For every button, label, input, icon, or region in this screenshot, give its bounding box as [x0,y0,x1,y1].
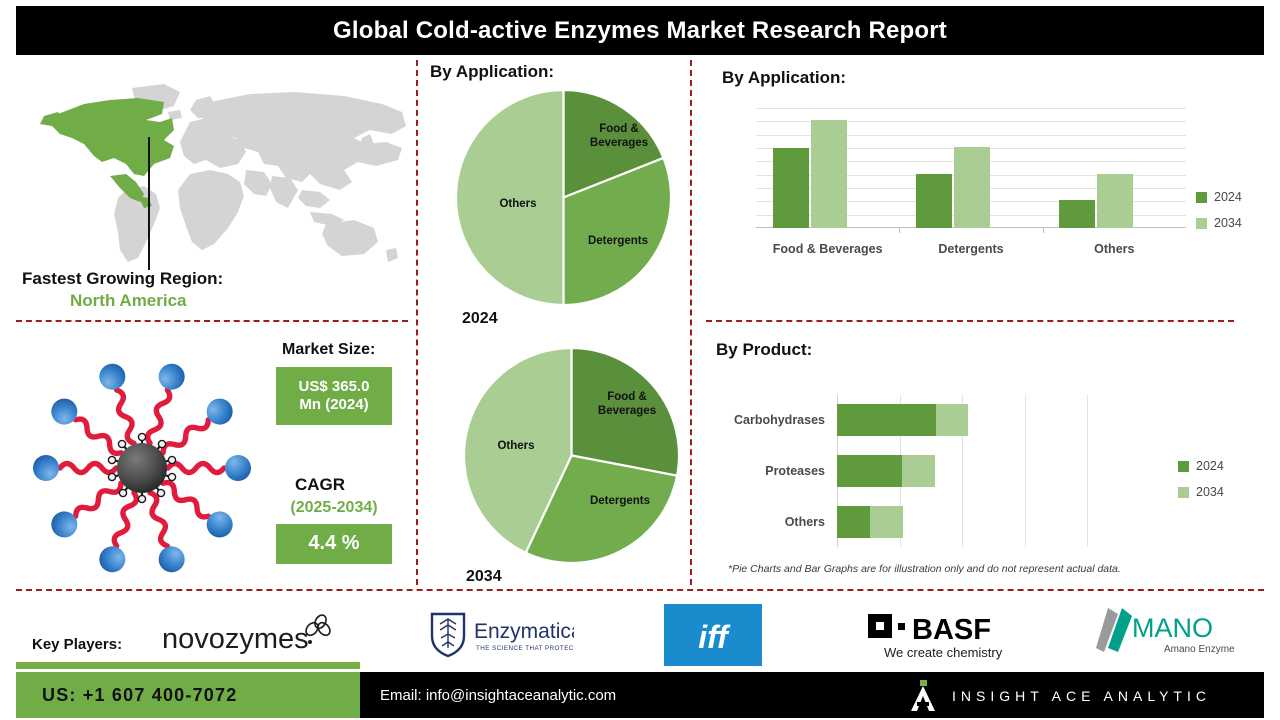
footer-contact-block: Email: info@insightaceanalytic.com INSIG… [360,672,1264,718]
bar-segment-2024 [837,404,936,436]
cagr-value-box: 4.4 % [276,524,392,564]
legend-item-2024-product: 2024 [1178,459,1224,473]
page-title: Global Cold-active Enzymes Market Resear… [333,17,947,45]
bar-2024 [1059,200,1095,228]
enzyme-nanoparticle-illustration [22,352,262,584]
svg-text:Amano Enzyme: Amano Enzyme [1164,644,1235,655]
pie-2024-year: 2024 [462,310,498,328]
bar-2034 [1097,174,1133,228]
axis-tick [899,228,900,233]
divider-vertical-left [416,60,418,585]
legend-swatch-2034-product [1178,487,1189,498]
product-bar-title: By Product: [716,340,812,360]
legend-label-2024-product: 2024 [1196,459,1224,473]
bar-segment-2034 [870,506,903,538]
market-size-title: Market Size: [282,341,375,359]
legend-label-2034: 2034 [1214,216,1242,230]
map-pointer-line [148,137,150,270]
gridline [1025,395,1026,547]
footer-phone-block: US: +1 607 400-7072 [16,672,360,718]
bar-segment-2024 [837,506,870,538]
svg-text:THE SCIENCE THAT PROTECTS: THE SCIENCE THAT PROTECTS [476,645,574,652]
svg-text:iff: iff [698,619,731,655]
pie-slice [572,348,680,476]
bar-2034 [954,147,990,228]
divider-horizontal-left [16,320,408,322]
svg-text:MANO: MANO [1132,613,1213,643]
pies-section-title: By Application: [430,62,554,82]
legend-item-2034: 2034 [1196,216,1242,230]
category-label: Proteases [765,455,837,487]
legend-item-2024: 2024 [1196,190,1242,204]
application-bar-legend: 2024 2034 [1196,190,1242,242]
bar-row: Proteases [837,455,935,487]
key-players-label: Key Players: [32,636,122,653]
fastest-region-value: North America [70,291,187,311]
svg-text:We create chemistry: We create chemistry [884,645,1003,660]
bar-2024 [773,148,809,228]
divider-horizontal-right [706,320,1234,322]
fastest-region-label: Fastest Growing Region: [22,269,223,289]
enzymatica-logo: Enzymatica THE SCIENCE THAT PROTECTS [424,608,574,662]
gridline [756,108,1186,109]
novozymes-logo: novozymes [160,612,340,660]
product-bar-legend: 2024 2034 [1178,459,1224,511]
axis-tick [1043,228,1044,233]
footer-email: Email: info@insightaceanalytic.com [380,687,616,704]
by-application-bar-chart: Food & BeveragesDetergentsOthers [756,108,1186,228]
bar-row: Carbohydrases [837,404,968,436]
bar-row: Others [837,506,903,538]
pie-slice [456,90,564,305]
market-size-line2: Mn (2024) [299,396,370,414]
svg-text:Enzymatica: Enzymatica [474,620,574,643]
legend-label-2034-product: 2034 [1196,485,1224,499]
basf-logo: BASF We create chemistry [866,606,1036,664]
header-bar: Global Cold-active Enzymes Market Resear… [16,6,1264,55]
legend-label-2024: 2024 [1214,190,1242,204]
cagr-title: CAGR [295,475,345,495]
bar-segment-2034 [936,404,968,436]
legend-item-2034-product: 2034 [1178,485,1224,499]
legend-swatch-2024-product [1178,461,1189,472]
gridline [1087,395,1088,547]
bar-2034 [811,120,847,228]
pie-2034-year: 2034 [466,568,502,586]
divider-vertical-right [690,60,692,585]
svg-text:novozymes: novozymes [162,623,309,655]
category-label: Others [1043,242,1186,256]
cagr-years: (2025-2034) [276,499,392,517]
brand-logo: INSIGHT ACE ANALYTIC [908,680,1211,712]
market-size-line1: US$ 365.0 [299,378,370,396]
insight-ace-mark-icon [908,680,938,712]
footer-phone: US: +1 607 400-7072 [42,685,237,706]
pie-chart-2024 [456,90,671,305]
bar-segment-2024 [837,455,902,487]
market-size-value-box: US$ 365.0 Mn (2024) [276,367,392,425]
iff-logo: iff [664,604,762,666]
legend-swatch-2034 [1196,218,1207,229]
divider-horizontal-bottom [16,589,1264,591]
category-label: Detergents [899,242,1042,256]
bar-2024 [916,174,952,228]
legend-swatch-2024 [1196,192,1207,203]
amano-logo: MANO Amano Enzyme [1082,604,1252,660]
chart-footnote: *Pie Charts and Bar Graphs are for illus… [728,563,1121,575]
bar-segment-2034 [902,455,935,487]
infographic-page: Global Cold-active Enzymes Market Resear… [0,0,1280,720]
svg-text:BASF: BASF [912,614,991,646]
by-product-bar-chart: CarbohydrasesProteasesOthers [837,395,1087,547]
brand-name: INSIGHT ACE ANALYTIC [952,688,1211,704]
world-map [14,78,414,268]
application-bar-title: By Application: [722,68,846,88]
pie-chart-2034 [464,348,679,563]
category-label: Others [785,506,837,538]
category-label: Carbohydrases [734,404,837,436]
footer-green-strip [16,662,360,669]
category-label: Food & Beverages [756,242,899,256]
